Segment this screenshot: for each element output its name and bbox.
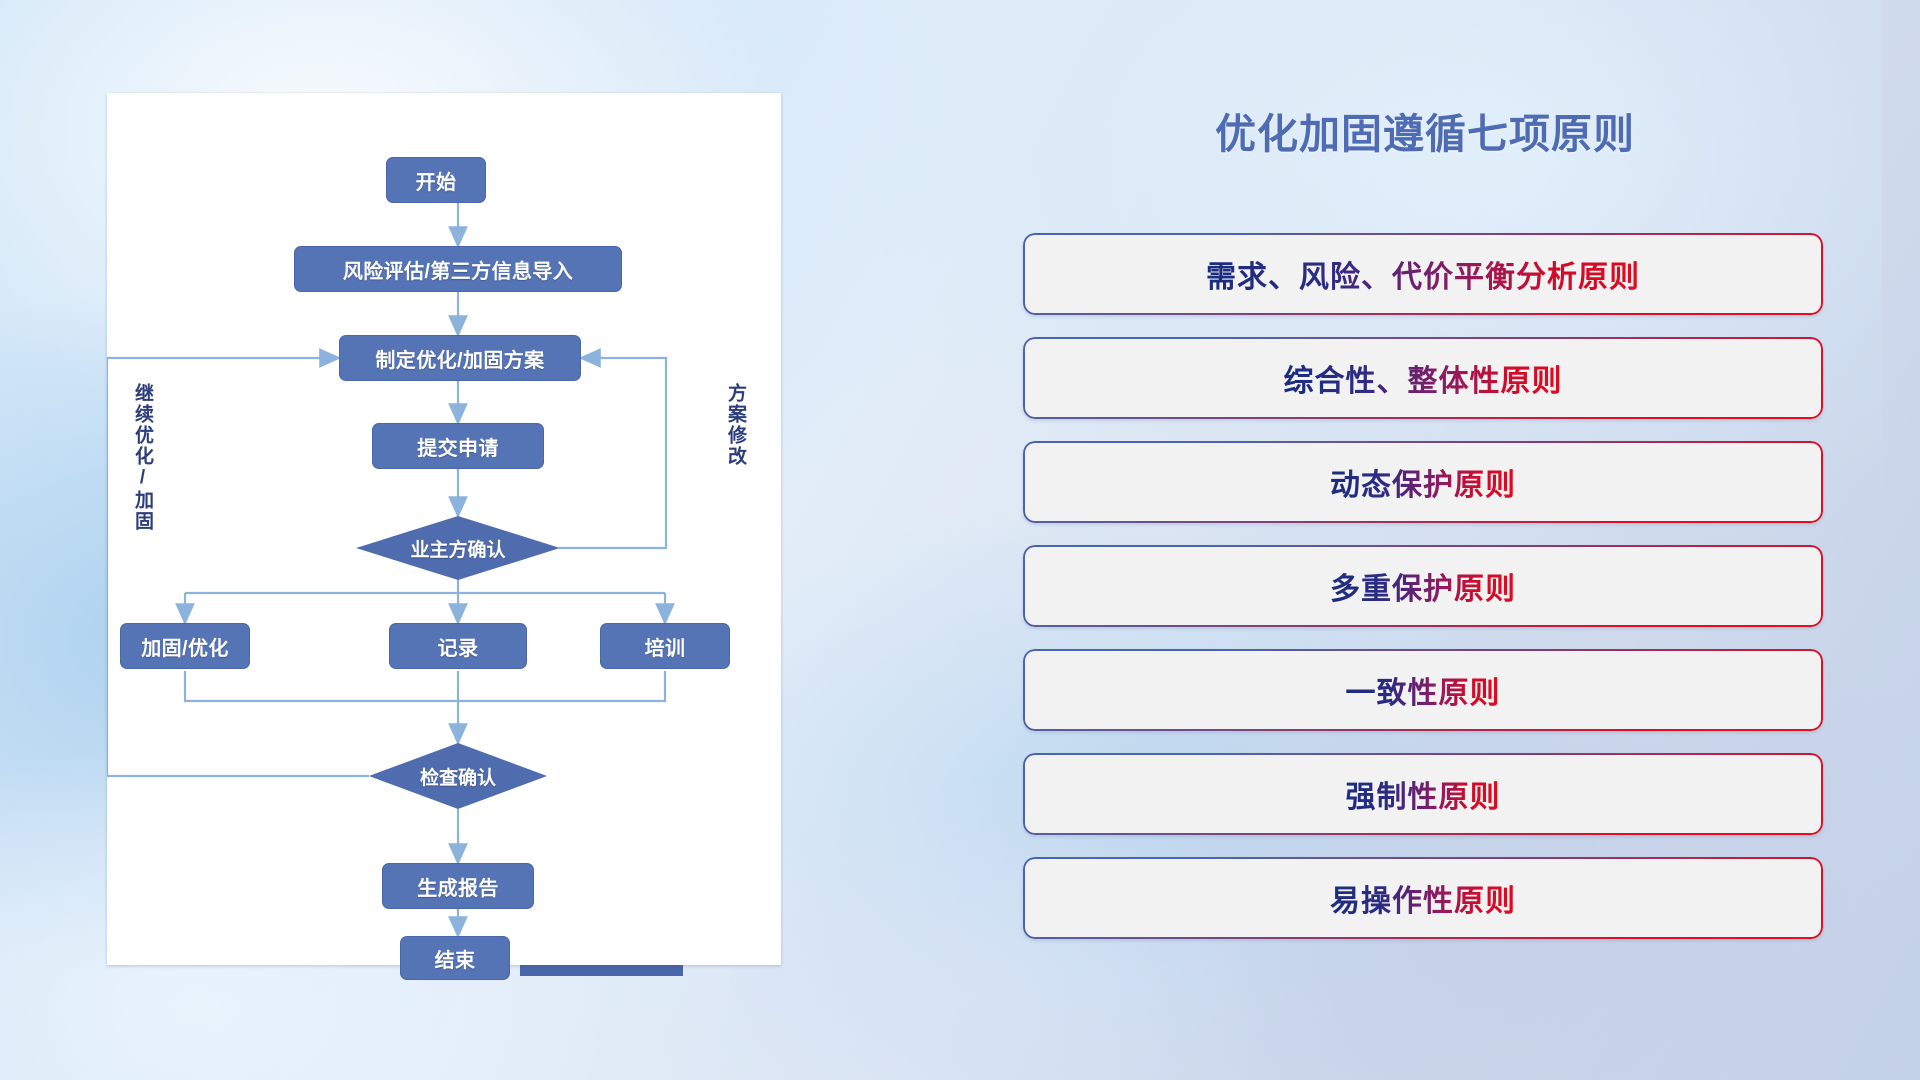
flow-node-start[interactable]: 开始 [386,157,486,203]
page-title: 优化加固遵循七项原则 [1010,100,1840,160]
principle-label: 多重保护原则 [1330,564,1516,608]
principle-label: 易操作性原则 [1330,876,1516,920]
flow-node-training[interactable]: 培训 [600,623,730,669]
principle-label: 一致性原则 [1346,668,1501,712]
principle-card[interactable]: 动态保护原则 [1023,441,1823,523]
flow-node-owner-confirm[interactable]: 业主方确认 [356,516,560,580]
flow-node-plan[interactable]: 制定优化/加固方案 [339,335,581,381]
edge-label-continue-optimize: 继续优化/加固 [129,383,156,532]
flow-node-check-confirm-label: 检查确认 [420,763,496,790]
principle-label: 强制性原则 [1346,772,1501,816]
principle-card[interactable]: 多重保护原则 [1023,545,1823,627]
principle-card[interactable]: 一致性原则 [1023,649,1823,731]
principle-label: 动态保护原则 [1330,460,1516,504]
edge-label-plan-revision: 方案修改 [722,383,749,467]
flow-node-check-confirm[interactable]: 检查确认 [369,743,547,809]
flow-node-risk-assessment[interactable]: 风险评估/第三方信息导入 [294,246,622,292]
flow-node-record[interactable]: 记录 [389,623,527,669]
flowchart: 开始 风险评估/第三方信息导入 制定优化/加固方案 提交申请 业主方确认 加固/… [107,93,781,965]
principle-card[interactable]: 需求、风险、代价平衡分析原则 [1023,233,1823,315]
flow-node-submit-application[interactable]: 提交申请 [372,423,544,469]
principle-card[interactable]: 综合性、整体性原则 [1023,337,1823,419]
flow-node-end[interactable]: 结束 [400,936,510,980]
flow-node-generate-report[interactable]: 生成报告 [382,863,534,909]
principle-card[interactable]: 强制性原则 [1023,753,1823,835]
flow-node-owner-confirm-label: 业主方确认 [410,535,505,562]
principles-card-list: 需求、风险、代价平衡分析原则 综合性、整体性原则 动态保护原则 多重保护原则 一… [1023,233,1823,961]
flow-node-reinforce[interactable]: 加固/优化 [120,623,250,669]
principles-panel: 优化加固遵循七项原则 需求、风险、代价平衡分析原则 综合性、整体性原则 动态保护… [1010,100,1840,1000]
principle-label: 需求、风险、代价平衡分析原则 [1206,252,1640,296]
principle-label: 综合性、整体性原则 [1284,356,1563,400]
principle-card[interactable]: 易操作性原则 [1023,857,1823,939]
